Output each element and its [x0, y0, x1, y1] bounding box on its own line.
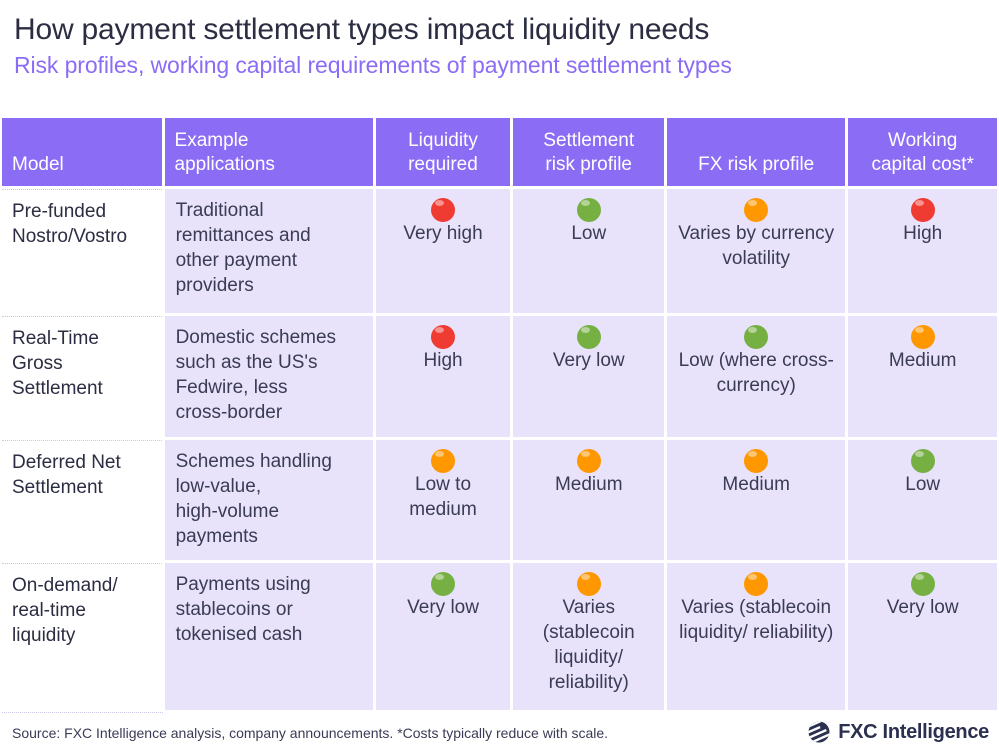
example-line4: payments — [176, 524, 361, 549]
column-header-liquidity-required: Liquidity required — [376, 118, 511, 186]
row-model-name: Real-Time Gross Settlement — [2, 316, 162, 437]
column-header-line2: risk profile — [543, 153, 634, 177]
row-working-capital-cost: Very low — [848, 563, 997, 710]
rating-label: Low (where cross-currency) — [675, 348, 837, 398]
example-line3: high-volume — [176, 499, 361, 524]
row-model-name: On-demand/ real-time liquidity — [2, 563, 162, 710]
model-line2: Nostro/Vostro — [12, 224, 152, 249]
example-line3: Fedwire, less — [176, 375, 361, 400]
model-line3: liquidity — [12, 623, 152, 648]
status-dot-orange-icon — [911, 325, 935, 349]
rating-label: Very low — [856, 595, 989, 620]
model-line2: Gross — [12, 351, 152, 376]
rating-label: Varies (stablecoin liquidity/ reliabilit… — [521, 595, 656, 695]
row-example-applications: Payments using stablecoins or tokenised … — [165, 563, 373, 710]
model-line1: Pre-funded — [12, 199, 152, 224]
row-fx-risk-profile: Varies by currency volatility — [667, 189, 845, 313]
example-line1: Schemes handling — [176, 449, 361, 474]
header: How payment settlement types impact liqu… — [0, 0, 999, 80]
status-dot-green-icon — [577, 198, 601, 222]
model-line2: real-time — [12, 598, 152, 623]
row-liquidity-required: Very high — [376, 189, 511, 313]
model-line1: Real-Time — [12, 326, 152, 351]
row-working-capital-cost: Low — [848, 440, 997, 560]
status-dot-orange-icon — [744, 572, 768, 596]
column-header-line2: capital cost* — [871, 153, 973, 177]
row-fx-risk-profile: Medium — [667, 440, 845, 560]
status-dot-red-icon — [431, 325, 455, 349]
example-line4: providers — [176, 273, 361, 298]
page-subtitle: Risk profiles, working capital requireme… — [14, 50, 985, 80]
example-line1: Domestic schemes — [176, 325, 361, 350]
status-dot-orange-icon — [744, 449, 768, 473]
column-header-settlement-risk-profile: Settlement risk profile — [513, 118, 664, 186]
globe-stripes-icon — [807, 720, 831, 744]
table-row: Deferred Net Settlement Schemes handling… — [2, 440, 997, 560]
table-row: Real-Time Gross Settlement Domestic sche… — [2, 316, 997, 437]
status-dot-green-icon — [744, 325, 768, 349]
rating-label: High — [384, 348, 503, 373]
example-line2: stablecoins or — [176, 597, 361, 622]
infographic-page: How payment settlement types impact liqu… — [0, 0, 999, 749]
column-header-line1: Settlement — [543, 129, 634, 153]
status-dot-green-icon — [911, 449, 935, 473]
column-header-line1: Example — [175, 129, 275, 153]
footer: Source: FXC Intelligence analysis, compa… — [0, 712, 999, 749]
status-dot-orange-icon — [577, 572, 601, 596]
column-header-fx-risk-profile: FX risk profile — [667, 118, 845, 186]
column-header-line2: required — [408, 153, 478, 177]
row-working-capital-cost: Medium — [848, 316, 997, 437]
row-liquidity-required: Very low — [376, 563, 511, 710]
status-dot-green-icon — [911, 572, 935, 596]
example-line2: remittances and — [176, 223, 361, 248]
table-row: On-demand/ real-time liquidity Payments … — [2, 563, 997, 710]
status-dot-orange-icon — [744, 198, 768, 222]
row-example-applications: Domestic schemes such as the US's Fedwir… — [165, 316, 373, 437]
example-line3: other payment — [176, 248, 361, 273]
brand-lockup: FXC Intelligence — [807, 720, 989, 744]
row-fx-risk-profile: Varies (stablecoin liquidity/ reliabilit… — [667, 563, 845, 710]
model-line3: Settlement — [12, 376, 152, 401]
status-dot-red-icon — [431, 198, 455, 222]
settlement-types-table: Model Example applications Liquidity req… — [2, 118, 997, 710]
rating-label: Very low — [384, 595, 503, 620]
rating-label: Very low — [521, 348, 656, 373]
status-dot-orange-icon — [577, 449, 601, 473]
column-header-line1: Liquidity — [408, 129, 478, 153]
rating-label: Medium — [675, 472, 837, 497]
example-line2: such as the US's — [176, 350, 361, 375]
rating-label: Medium — [856, 348, 989, 373]
row-settlement-risk-profile: Medium — [513, 440, 664, 560]
column-header-working-capital-cost: Working capital cost* — [848, 118, 997, 186]
row-settlement-risk-profile: Low — [513, 189, 664, 313]
rating-label: Varies (stablecoin liquidity/ reliabilit… — [675, 595, 837, 645]
example-line2: low-value, — [176, 474, 361, 499]
row-settlement-risk-profile: Very low — [513, 316, 664, 437]
brand-name: FXC Intelligence — [838, 721, 989, 744]
example-line1: Payments using — [176, 572, 361, 597]
row-example-applications: Schemes handling low-value, high-volume … — [165, 440, 373, 560]
rating-label: Medium — [521, 472, 656, 497]
model-line2: Settlement — [12, 475, 152, 500]
status-dot-green-icon — [431, 572, 455, 596]
table-row: Pre-funded Nostro/Vostro Traditional rem… — [2, 189, 997, 313]
page-title: How payment settlement types impact liqu… — [14, 12, 985, 48]
column-header-line2: applications — [175, 153, 275, 177]
rating-label: High — [856, 221, 989, 246]
table-header-row: Model Example applications Liquidity req… — [2, 118, 997, 186]
rating-label: Very high — [384, 221, 503, 246]
column-header-example-applications: Example applications — [165, 118, 373, 186]
source-note: Source: FXC Intelligence analysis, compa… — [12, 724, 608, 743]
row-liquidity-required: Low to medium — [376, 440, 511, 560]
rating-label: Low — [521, 221, 656, 246]
status-dot-red-icon — [911, 198, 935, 222]
example-line3: tokenised cash — [176, 622, 361, 647]
model-line1: On-demand/ — [12, 573, 152, 598]
column-header-line2: FX risk profile — [698, 153, 814, 177]
column-header-line1: Working — [871, 129, 973, 153]
row-model-name: Deferred Net Settlement — [2, 440, 162, 560]
model-line1: Deferred Net — [12, 450, 152, 475]
row-liquidity-required: High — [376, 316, 511, 437]
row-settlement-risk-profile: Varies (stablecoin liquidity/ reliabilit… — [513, 563, 664, 710]
rating-label: Low — [856, 472, 989, 497]
rating-label: Varies by currency volatility — [675, 221, 837, 271]
example-line1: Traditional — [176, 198, 361, 223]
example-line4: cross-border — [176, 400, 361, 425]
rating-label: Low to medium — [384, 472, 503, 522]
status-dot-orange-icon — [431, 449, 455, 473]
column-header-model: Model — [2, 118, 162, 186]
footer-divider — [2, 712, 163, 713]
row-model-name: Pre-funded Nostro/Vostro — [2, 189, 162, 313]
status-dot-green-icon — [577, 325, 601, 349]
row-example-applications: Traditional remittances and other paymen… — [165, 189, 373, 313]
row-fx-risk-profile: Low (where cross-currency) — [667, 316, 845, 437]
row-working-capital-cost: High — [848, 189, 997, 313]
